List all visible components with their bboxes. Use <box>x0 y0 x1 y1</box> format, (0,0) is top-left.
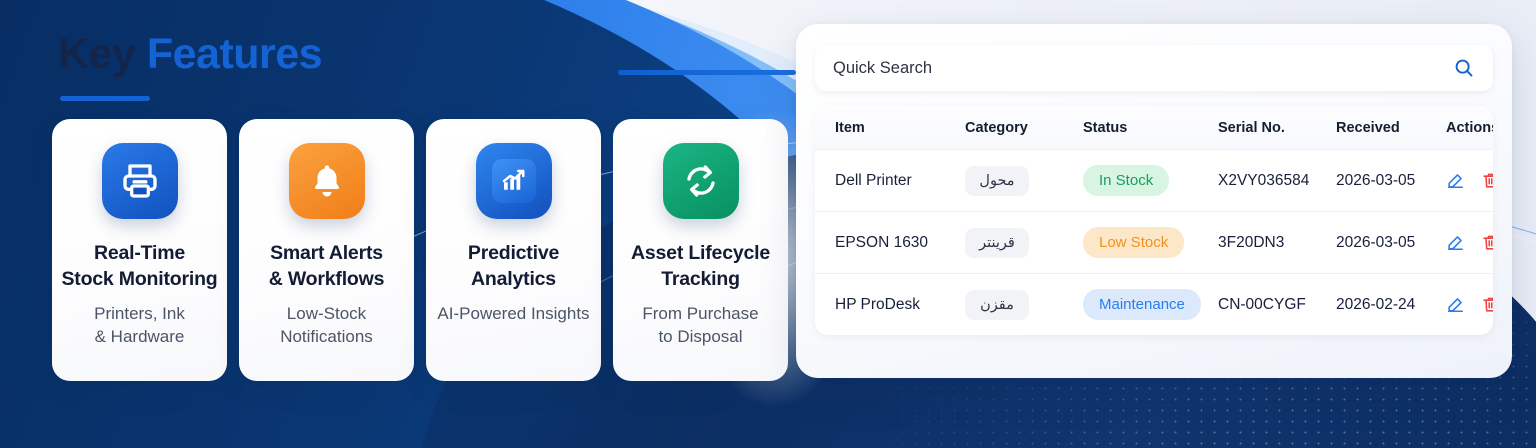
search-bar[interactable]: Quick Search <box>815 45 1493 91</box>
category-chip: مقزن <box>965 290 1029 320</box>
table-header: Item Category Status Serial No. Received… <box>815 106 1493 150</box>
cell-item: HP ProDesk <box>815 274 965 336</box>
row-actions <box>1446 171 1493 190</box>
cell-status: In Stock <box>1083 150 1218 212</box>
column-header-actions: Actions <box>1446 106 1493 150</box>
table-body: Dell Printer محول In Stock X2VY036584 20… <box>815 150 1493 336</box>
inventory-table: Item Category Status Serial No. Received… <box>815 106 1493 335</box>
feature-card-title: Predictive Analytics <box>468 241 559 293</box>
edit-icon[interactable] <box>1446 295 1465 314</box>
cell-received: 2026-02-24 <box>1336 274 1446 336</box>
status-badge: Low Stock <box>1083 227 1184 258</box>
feature-card-smart-alerts-workflows[interactable]: Smart Alerts & Workflows Low-Stock Notif… <box>239 119 414 381</box>
search-input[interactable]: Quick Search <box>833 59 1451 78</box>
feature-card-title: Real-Time Stock Monitoring <box>61 241 217 293</box>
table-row[interactable]: HP ProDesk مقزن Maintenance CN-00CYGF 20… <box>815 274 1493 336</box>
feature-card-list: Real-Time Stock Monitoring Printers, Ink… <box>52 119 788 381</box>
cell-actions <box>1446 212 1493 274</box>
status-badge: In Stock <box>1083 165 1169 196</box>
refresh-cycle-icon <box>663 143 739 219</box>
chart-trending-up-icon <box>476 143 552 219</box>
page-root: Key Features Real-Time Stock Monitoring … <box>0 0 1536 448</box>
feature-card-real-time-stock-monitoring[interactable]: Real-Time Stock Monitoring Printers, Ink… <box>52 119 227 381</box>
cell-status: Maintenance <box>1083 274 1218 336</box>
column-header-received[interactable]: Received <box>1336 106 1446 150</box>
cell-received: 2026-03-05 <box>1336 212 1446 274</box>
table-row[interactable]: Dell Printer محول In Stock X2VY036584 20… <box>815 150 1493 212</box>
feature-card-title: Asset Lifecycle Tracking <box>631 241 770 293</box>
cell-received: 2026-03-05 <box>1336 150 1446 212</box>
cell-actions <box>1446 274 1493 336</box>
cell-actions <box>1446 150 1493 212</box>
cell-serial: X2VY036584 <box>1218 150 1336 212</box>
category-chip: محول <box>965 166 1029 196</box>
column-header-serial[interactable]: Serial No. <box>1218 106 1336 150</box>
column-header-status[interactable]: Status <box>1083 106 1218 150</box>
cell-category: قرينتر <box>965 212 1083 274</box>
cell-item: EPSON 1630 <box>815 212 965 274</box>
row-actions <box>1446 233 1493 252</box>
feature-card-subtitle: Printers, Ink & Hardware <box>94 302 185 349</box>
cell-serial: CN-00CYGF <box>1218 274 1336 336</box>
cell-category: محول <box>965 150 1083 212</box>
page-title-part-one: Key <box>58 30 135 78</box>
feature-card-subtitle: From Purchase to Disposal <box>642 302 758 349</box>
column-header-item[interactable]: Item <box>815 106 965 150</box>
edit-icon[interactable] <box>1446 171 1465 190</box>
feature-card-asset-lifecycle-tracking[interactable]: Asset Lifecycle Tracking From Purchase t… <box>613 119 788 381</box>
page-title: Key Features <box>58 30 322 79</box>
status-badge: Maintenance <box>1083 289 1201 320</box>
feature-card-subtitle: AI-Powered Insights <box>437 302 589 325</box>
cell-status: Low Stock <box>1083 212 1218 274</box>
section-divider-rule <box>618 70 796 75</box>
cell-category: مقزن <box>965 274 1083 336</box>
cell-item: Dell Printer <box>815 150 965 212</box>
inventory-panel: Quick Search Item Category Status Serial… <box>796 24 1512 378</box>
feature-card-title: Smart Alerts & Workflows <box>269 241 385 293</box>
trash-icon[interactable] <box>1481 171 1493 190</box>
page-title-part-two: Features <box>147 30 322 78</box>
row-actions <box>1446 295 1493 314</box>
trash-icon[interactable] <box>1481 295 1493 314</box>
category-chip: قرينتر <box>965 228 1029 258</box>
search-icon[interactable] <box>1451 55 1477 81</box>
printer-icon <box>102 143 178 219</box>
column-header-category[interactable]: Category <box>965 106 1083 150</box>
cell-serial: 3F20DN3 <box>1218 212 1336 274</box>
table-header-row: Item Category Status Serial No. Received… <box>815 106 1493 150</box>
edit-icon[interactable] <box>1446 233 1465 252</box>
trash-icon[interactable] <box>1481 233 1493 252</box>
title-underline <box>60 96 150 101</box>
feature-card-predictive-analytics[interactable]: Predictive Analytics AI-Powered Insights <box>426 119 601 381</box>
feature-card-subtitle: Low-Stock Notifications <box>280 302 373 349</box>
inventory-table-card: Item Category Status Serial No. Received… <box>815 106 1493 335</box>
bell-icon <box>289 143 365 219</box>
table-row[interactable]: EPSON 1630 قرينتر Low Stock 3F20DN3 2026… <box>815 212 1493 274</box>
